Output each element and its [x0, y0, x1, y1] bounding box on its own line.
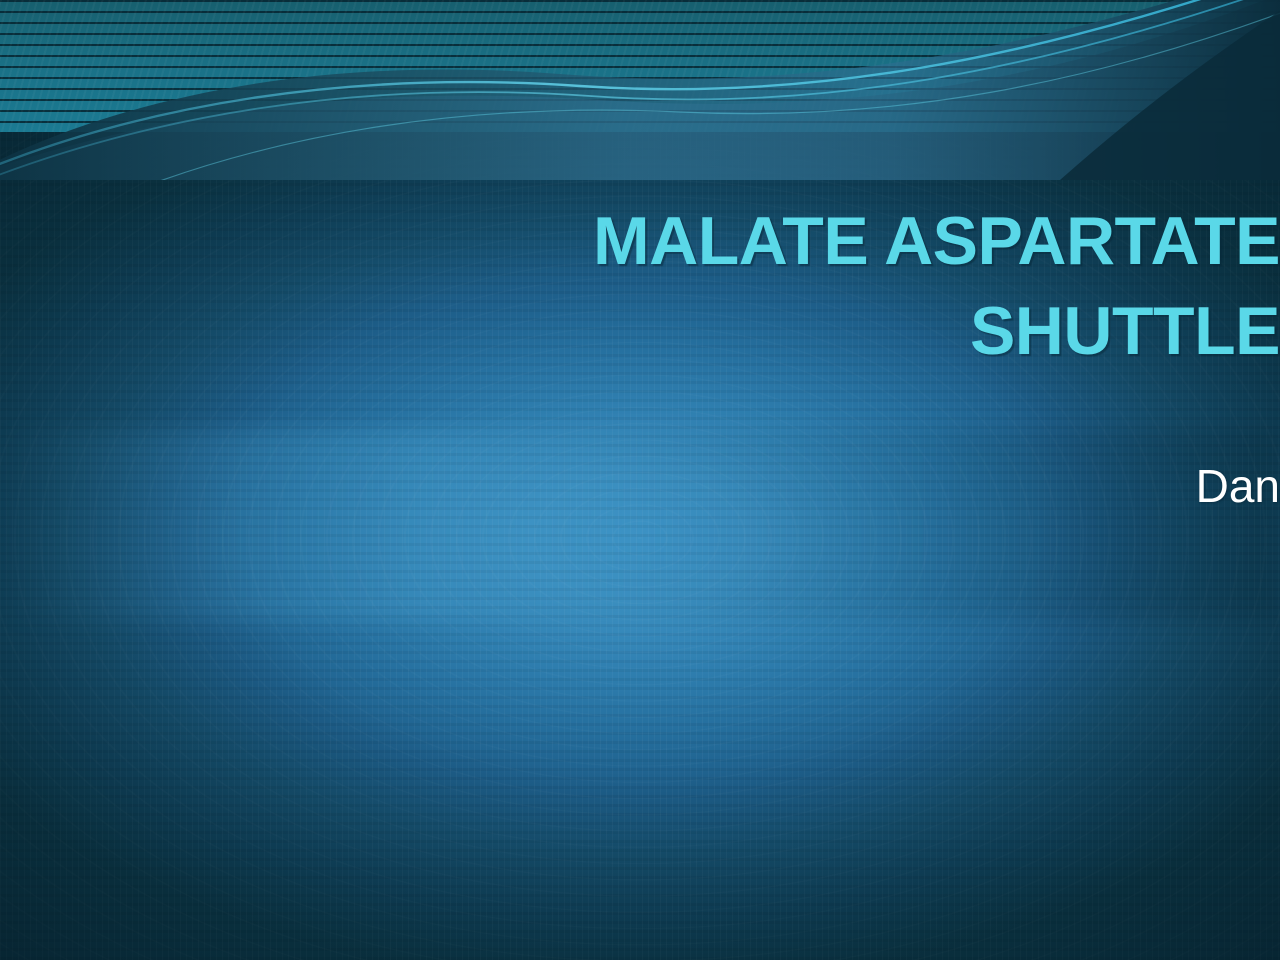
slide-title: MALATE ASPARTATE SHUTTLE: [180, 196, 1280, 376]
title-slide: MALATE ASPARTATE SHUTTLE Dan: [0, 0, 1280, 960]
swoosh-wave-graphic: [0, 0, 1280, 180]
slide-subtitle: Dan: [180, 458, 1280, 514]
